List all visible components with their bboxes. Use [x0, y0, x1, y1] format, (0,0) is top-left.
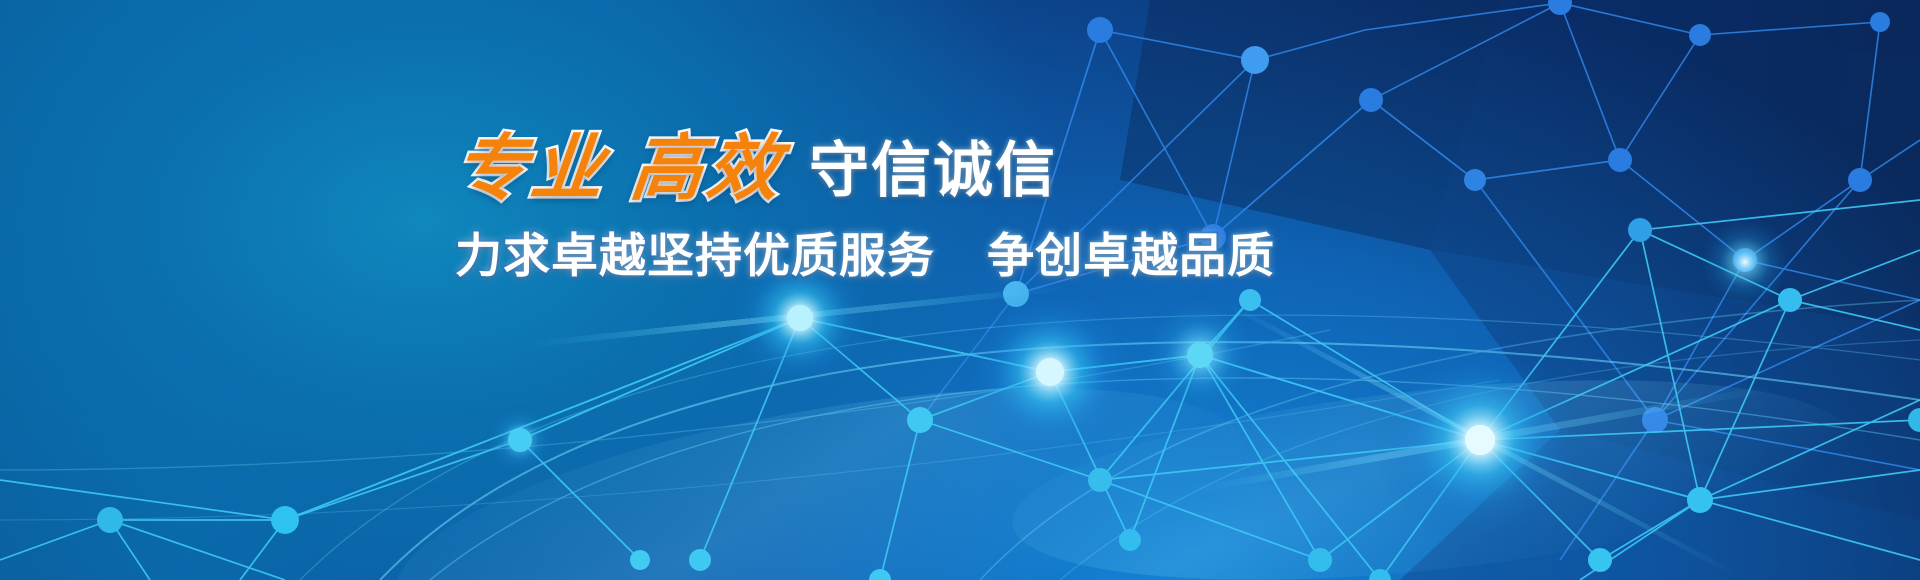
hero-banner: 专业 高效 守信诚信 力求卓越坚持优质服务 争创卓越品质 — [0, 0, 1920, 580]
network-mesh-lower — [0, 0, 1920, 580]
subtitle-part-2: 争创卓越品质 — [987, 229, 1275, 282]
banner-text-block: 专业 高效 守信诚信 力求卓越坚持优质服务 争创卓越品质 — [455, 133, 1155, 286]
subtitle: 力求卓越坚持优质服务 争创卓越品质 — [455, 217, 1155, 286]
subtitle-part-1: 力求卓越坚持优质服务 — [455, 229, 935, 282]
headline-white-text: 守信诚信 — [809, 141, 1057, 201]
headline-orange-text: 专业 高效 — [451, 133, 787, 205]
headline: 专业 高效 守信诚信 — [455, 133, 1155, 205]
